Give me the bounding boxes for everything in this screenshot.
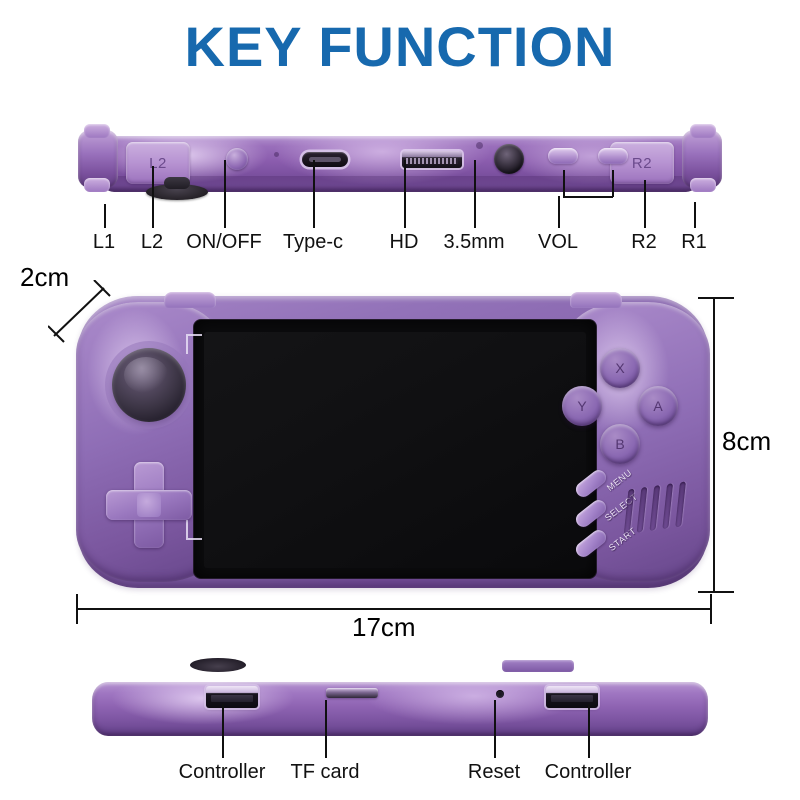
leader-line: [222, 704, 224, 758]
page-title: KEY FUNCTION: [0, 18, 800, 77]
bezel-corner-mark: [186, 334, 202, 354]
front-shoulder-left: [164, 292, 216, 308]
callout-label-type-c: Type-c: [283, 231, 343, 254]
usb-type-c-port: [302, 152, 348, 167]
callout-label-3-5mm: 3.5mm: [443, 231, 504, 254]
indicator-hole: [274, 152, 279, 157]
trigger-edge-hint: [502, 660, 574, 672]
vol-bracket-arm-left: [563, 170, 565, 197]
front-shoulder-right: [570, 292, 622, 308]
vol-bracket: [563, 196, 613, 198]
face-button-x[interactable]: X: [600, 348, 640, 388]
display-screen[interactable]: [194, 320, 596, 578]
dimension-height-label: 8cm: [722, 426, 771, 457]
callout-label-controller-0: Controller: [179, 761, 266, 784]
leader-line: [694, 202, 696, 228]
leader-line: [224, 160, 226, 228]
speaker-grille: [619, 478, 692, 541]
usb-controller-port-right: [546, 686, 598, 708]
leader-line: [644, 180, 646, 228]
leader-line: [588, 704, 590, 758]
screen-inner-bezel: [204, 332, 586, 568]
leader-line: [313, 160, 315, 228]
vol-bracket-arm-right: [612, 170, 614, 197]
bumper-fin-bottom: [690, 178, 716, 192]
leader-line: [494, 700, 496, 758]
speaker-slot: [675, 481, 686, 527]
speaker-slot: [650, 485, 661, 531]
callout-label-r2: R2: [631, 231, 657, 254]
usb-controller-port-left: [206, 686, 258, 708]
volume-up-button[interactable]: [548, 148, 578, 164]
power-button[interactable]: [226, 148, 248, 170]
volume-down-button[interactable]: [598, 148, 628, 164]
leader-line: [325, 700, 327, 758]
dimension-width-label: 17cm: [352, 612, 416, 643]
callout-label-l1: L1: [93, 231, 115, 254]
speaker-slot: [662, 483, 673, 529]
leader-line: [558, 196, 560, 228]
device-top-edge-view: L2 R2: [78, 122, 722, 204]
face-button-a[interactable]: A: [638, 386, 678, 426]
microphone-hole: [476, 142, 483, 149]
face-button-b[interactable]: B: [600, 424, 640, 464]
analog-joystick[interactable]: [112, 348, 186, 422]
tf-card-slot: [326, 688, 378, 698]
diagram-canvas: KEY FUNCTION L2 R2 L1L2ON/OFFType-cHD3.5…: [0, 0, 800, 800]
callout-label-r1: R1: [681, 231, 707, 254]
callout-label-hd: HD: [390, 231, 419, 254]
leader-line: [474, 160, 476, 228]
reset-pinhole[interactable]: [496, 690, 504, 698]
device-bottom-edge-view: [78, 668, 722, 742]
bumper-fin-bottom: [84, 178, 110, 192]
callout-label-vol: VOL: [538, 231, 578, 254]
callout-label-on-off: ON/OFF: [186, 231, 262, 254]
speaker-slot: [637, 487, 648, 533]
bumper-fin-top: [84, 124, 110, 138]
device-shell-bottom: [92, 682, 708, 736]
bumper-fin-top: [690, 124, 716, 138]
joystick-nub: [146, 184, 208, 200]
callout-label-l2: L2: [141, 231, 163, 254]
shoulder-button-r1[interactable]: [682, 130, 722, 188]
d-pad[interactable]: [106, 462, 192, 548]
joystick-nub: [190, 658, 246, 672]
face-button-y[interactable]: Y: [562, 386, 602, 426]
headphone-jack: [494, 144, 524, 174]
dimension-thickness-arrow: [48, 280, 112, 344]
leader-line: [152, 166, 154, 228]
hdmi-port: [402, 151, 462, 168]
device-front-view: X Y A B MENU SELECT START: [78, 296, 708, 588]
leader-line: [404, 160, 406, 228]
callout-label-reset-2: Reset: [468, 761, 520, 784]
leader-line: [104, 204, 106, 228]
callout-label-controller-3: Controller: [545, 761, 632, 784]
shoulder-button-l1[interactable]: [78, 130, 118, 188]
callout-label-tf-card-1: TF card: [291, 761, 360, 784]
speaker-slot: [624, 489, 635, 535]
dpad-center: [137, 493, 161, 517]
